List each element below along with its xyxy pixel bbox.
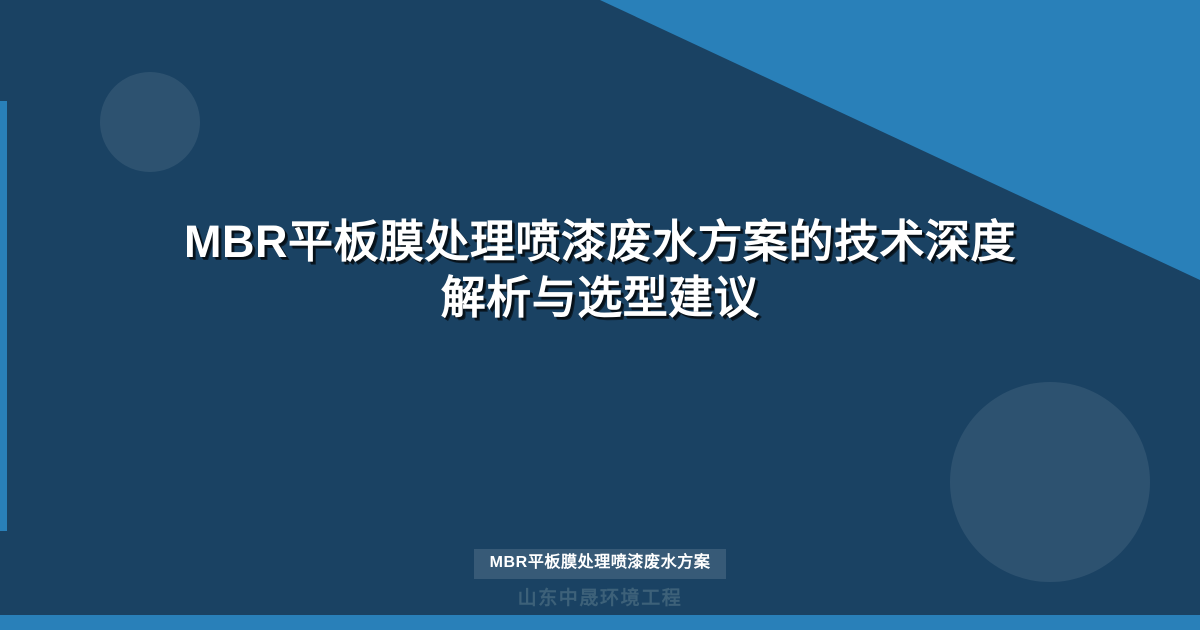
page-title-line-1: MBR平板膜处理喷漆废水方案的技术深度 (90, 214, 1110, 270)
page-title: MBR平板膜处理喷漆废水方案的技术深度 解析与选型建议 (0, 214, 1200, 326)
bottom-accent-bar (0, 615, 1200, 630)
poster-canvas: MBR平板膜处理喷漆废水方案的技术深度 解析与选型建议 MBR平板膜处理喷漆废水… (0, 0, 1200, 630)
watermark: MBR平板膜处理喷漆废水方案 山东中晟环境工程 (0, 549, 1200, 612)
decorative-circle-top-left (100, 72, 200, 172)
watermark-badge: MBR平板膜处理喷漆废水方案 (474, 549, 727, 579)
page-title-line-2: 解析与选型建议 (90, 270, 1110, 326)
watermark-company-name: 山东中晟环境工程 (0, 586, 1200, 612)
